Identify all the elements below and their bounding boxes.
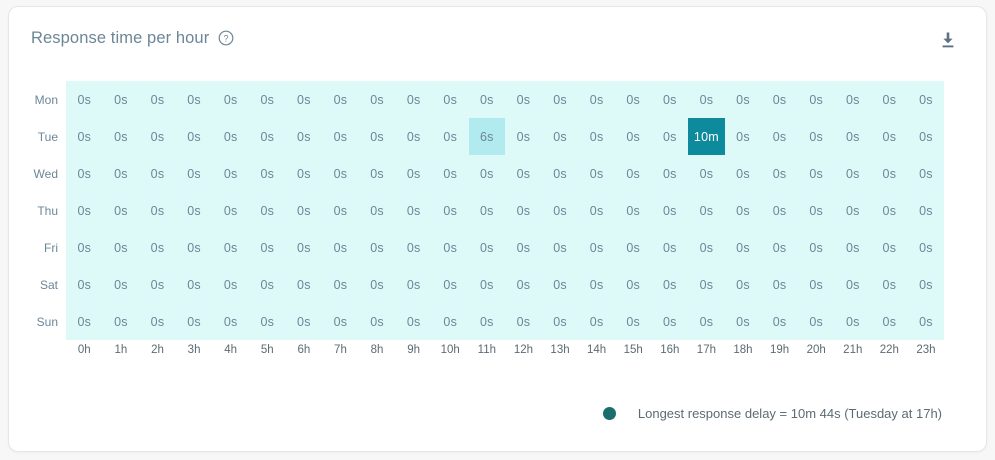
heatmap-cell[interactable]: 0s — [395, 118, 432, 155]
heatmap-cell[interactable]: 0s — [322, 303, 359, 340]
heatmap-cell-value: 0s — [578, 266, 615, 303]
heatmap-cell-value: 0s — [322, 155, 359, 192]
heatmap-cell-value: 0s — [469, 81, 506, 118]
heatmap-cell[interactable]: 0s — [103, 266, 140, 303]
heatmap-cell[interactable]: 0s — [542, 81, 579, 118]
heatmap-cell[interactable]: 0s — [469, 155, 506, 192]
heatmap-cell-value: 0s — [286, 118, 323, 155]
heatmap-cell[interactable]: 0s — [176, 118, 213, 155]
heatmap-cell[interactable]: 0s — [359, 303, 396, 340]
heatmap-cell-value: 0s — [725, 192, 762, 229]
heatmap-cell-value: 0s — [652, 192, 689, 229]
heatmap-cell[interactable]: 0s — [578, 266, 615, 303]
heatmap-cell[interactable]: 0s — [359, 155, 396, 192]
heatmap-cell-value: 0s — [542, 229, 579, 266]
heatmap-cell-value: 0s — [359, 81, 396, 118]
hour-label: 19h — [761, 344, 798, 356]
heatmap-cell[interactable]: 0s — [212, 118, 249, 155]
heatmap-cell[interactable]: 0s — [798, 229, 835, 266]
heatmap-cell[interactable]: 0s — [578, 118, 615, 155]
heatmap-cell[interactable]: 0s — [286, 303, 323, 340]
heatmap-cell[interactable]: 0s — [176, 229, 213, 266]
heatmap-cell[interactable]: 0s — [578, 192, 615, 229]
heatmap-cell-value: 0s — [139, 266, 176, 303]
response-time-card: Response time per hour ? MonTueWedThuFri… — [8, 6, 987, 452]
heatmap-cell[interactable]: 0s — [725, 229, 762, 266]
heatmap-cell[interactable]: 0s — [505, 155, 542, 192]
heatmap-cell-value: 0s — [725, 155, 762, 192]
heatmap-cell[interactable]: 0s — [322, 266, 359, 303]
heatmap-cell-value: 0s — [652, 266, 689, 303]
heatmap-cell[interactable]: 0s — [139, 303, 176, 340]
heatmap-cell[interactable]: 0s — [834, 81, 871, 118]
heatmap-cell[interactable]: 0s — [322, 81, 359, 118]
heatmap-cell-value: 0s — [542, 303, 579, 340]
heatmap-cell[interactable]: 0s — [761, 303, 798, 340]
heatmap-cell-value: 6s — [469, 118, 506, 155]
heatmap-cell-value: 0s — [908, 303, 945, 340]
heatmap-cell-value: 0s — [652, 155, 689, 192]
heatmap-cell-value: 0s — [322, 229, 359, 266]
heatmap-cell[interactable]: 0s — [176, 266, 213, 303]
heatmap-cell-value: 0s — [176, 266, 213, 303]
heatmap-cell[interactable]: 0s — [542, 192, 579, 229]
heatmap-cell[interactable]: 0s — [505, 303, 542, 340]
heatmap-cell-value: 0s — [834, 81, 871, 118]
heatmap-cell[interactable]: 0s — [469, 81, 506, 118]
heatmap-cell[interactable]: 0s — [908, 229, 945, 266]
heatmap-cell[interactable]: 0s — [395, 303, 432, 340]
response-time-heatmap: MonTueWedThuFriSatSun 0s0s0s0s0s0s0s0s0s… — [66, 81, 944, 356]
heatmap-cell[interactable]: 0s — [469, 303, 506, 340]
heatmap-cell[interactable]: 0s — [66, 229, 103, 266]
heatmap-cell[interactable]: 0s — [615, 192, 652, 229]
heatmap-cell[interactable]: 0s — [505, 229, 542, 266]
heatmap-cell-value: 0s — [103, 192, 140, 229]
heatmap-cell-value: 0s — [139, 118, 176, 155]
heatmap-cell-value: 0s — [176, 155, 213, 192]
heatmap-cell[interactable]: 0s — [395, 155, 432, 192]
heatmap-cell-value: 0s — [761, 266, 798, 303]
heatmap-cell-value: 0s — [615, 303, 652, 340]
heatmap-cell-value: 0s — [871, 229, 908, 266]
heatmap-cell-value: 0s — [615, 266, 652, 303]
heatmap-cell-value: 0s — [286, 192, 323, 229]
heatmap-cell-value: 0s — [286, 266, 323, 303]
heatmap-cell-value: 0s — [432, 118, 469, 155]
heatmap-cell[interactable]: 0s — [139, 118, 176, 155]
heatmap-cell[interactable]: 0s — [652, 155, 689, 192]
heatmap-cell[interactable]: 0s — [798, 303, 835, 340]
heatmap-cell-value: 0s — [761, 155, 798, 192]
heatmap-cell[interactable]: 0s — [578, 155, 615, 192]
heatmap-cell-value: 0s — [432, 192, 469, 229]
heatmap-cell[interactable]: 0s — [688, 266, 725, 303]
day-label: Fri — [16, 229, 60, 266]
heatmap-cell[interactable]: 0s — [871, 118, 908, 155]
heatmap-cell[interactable]: 0s — [249, 192, 286, 229]
day-label: Thu — [16, 192, 60, 229]
heatmap-cell[interactable]: 0s — [578, 229, 615, 266]
heatmap-cell[interactable]: 0s — [505, 266, 542, 303]
heatmap-cell-value: 0s — [139, 155, 176, 192]
heatmap-cell[interactable]: 0s — [395, 229, 432, 266]
heatmap-cell-value: 0s — [359, 192, 396, 229]
heatmap-cell-value: 0s — [395, 192, 432, 229]
day-label: Sat — [16, 266, 60, 303]
heatmap-cell[interactable]: 0s — [469, 229, 506, 266]
heatmap-cell-value: 0s — [834, 229, 871, 266]
heatmap-cell[interactable]: 0s — [176, 155, 213, 192]
heatmap-cell-value: 0s — [761, 303, 798, 340]
heatmap-cell-value: 0s — [322, 192, 359, 229]
heatmap-row: 0s0s0s0s0s0s0s0s0s0s0s0s0s0s0s0s0s0s0s0s… — [66, 266, 944, 303]
heatmap-cell[interactable]: 0s — [542, 303, 579, 340]
heatmap-cell-value: 0s — [139, 229, 176, 266]
heatmap-cell[interactable]: 0s — [834, 192, 871, 229]
heatmap-cell-value: 0s — [359, 303, 396, 340]
heatmap-cell-value: 0s — [432, 303, 469, 340]
heatmap-cell-value: 0s — [834, 303, 871, 340]
heatmap-cell-value: 0s — [652, 229, 689, 266]
heatmap-cell[interactable]: 0s — [66, 118, 103, 155]
heatmap-cell-value: 0s — [542, 266, 579, 303]
heatmap-cell-value: 0s — [652, 118, 689, 155]
heatmap-cell[interactable]: 0s — [578, 303, 615, 340]
heatmap-cell[interactable]: 0s — [761, 192, 798, 229]
heatmap-cell[interactable]: 0s — [322, 229, 359, 266]
heatmap-cell-value: 0s — [322, 266, 359, 303]
heatmap-cell[interactable]: 0s — [66, 81, 103, 118]
heatmap-cell[interactable]: 0s — [286, 118, 323, 155]
heatmap-cell-value: 0s — [798, 118, 835, 155]
heatmap-cell[interactable]: 0s — [908, 303, 945, 340]
heatmap-cell[interactable]: 0s — [286, 229, 323, 266]
heatmap-cell[interactable]: 0s — [761, 229, 798, 266]
hour-axis-labels: 0h1h2h3h4h5h6h7h8h9h10h11h12h13h14h15h16… — [66, 344, 944, 356]
heatmap-cell[interactable]: 0s — [359, 266, 396, 303]
heatmap-cell-value: 0s — [212, 229, 249, 266]
day-label: Sun — [16, 303, 60, 340]
heatmap-cell-value: 0s — [212, 266, 249, 303]
heatmap-cell[interactable]: 0s — [505, 81, 542, 118]
heatmap-cell[interactable]: 0s — [66, 155, 103, 192]
heatmap-cell-value: 10m — [688, 118, 725, 155]
heatmap-cell-value: 0s — [286, 303, 323, 340]
heatmap-cell[interactable]: 0s — [322, 192, 359, 229]
heatmap-cell[interactable]: 0s — [66, 266, 103, 303]
heatmap-cell-value: 0s — [322, 118, 359, 155]
heatmap-row: 0s0s0s0s0s0s0s0s0s0s0s0s0s0s0s0s0s0s0s0s… — [66, 155, 944, 192]
heatmap-cell[interactable]: 0s — [432, 81, 469, 118]
heatmap-cell-value: 0s — [212, 192, 249, 229]
title-group: Response time per hour ? — [31, 29, 234, 48]
heatmap-cell[interactable]: 0s — [834, 266, 871, 303]
heatmap-cell[interactable]: 0s — [249, 229, 286, 266]
heatmap-cell-value: 0s — [359, 229, 396, 266]
heatmap-cell[interactable]: 0s — [725, 303, 762, 340]
heatmap-cell[interactable]: 0s — [871, 81, 908, 118]
heatmap-cell[interactable]: 0s — [103, 81, 140, 118]
heatmap-cell-value: 0s — [212, 118, 249, 155]
heatmap-cell-value: 0s — [212, 81, 249, 118]
heatmap-cell[interactable]: 0s — [615, 81, 652, 118]
heatmap-cell[interactable]: 0s — [103, 192, 140, 229]
card-header: Response time per hour ? — [9, 7, 986, 69]
heatmap-cell-value: 0s — [66, 118, 103, 155]
heatmap-cell-value: 0s — [66, 266, 103, 303]
heatmap-cell[interactable]: 0s — [542, 229, 579, 266]
hour-label: 8h — [359, 344, 396, 356]
heatmap-cell-value: 0s — [469, 155, 506, 192]
heatmap-cell[interactable]: 0s — [286, 155, 323, 192]
heatmap-cell-value: 0s — [249, 303, 286, 340]
heatmap-cell[interactable]: 0s — [652, 303, 689, 340]
heatmap-cell-value: 0s — [652, 303, 689, 340]
heatmap-cell-value: 0s — [103, 81, 140, 118]
heatmap-cell[interactable]: 0s — [761, 266, 798, 303]
heatmap-cell[interactable]: 0s — [798, 155, 835, 192]
heatmap-cell-value: 0s — [725, 118, 762, 155]
heatmap-cell[interactable]: 0s — [103, 155, 140, 192]
heatmap-cell[interactable]: 0s — [798, 81, 835, 118]
download-icon[interactable] — [936, 28, 960, 52]
heatmap-cell-value: 0s — [395, 118, 432, 155]
heatmap-cell[interactable]: 0s — [176, 303, 213, 340]
heatmap-cell[interactable]: 0s — [66, 303, 103, 340]
heatmap-cell[interactable]: 0s — [139, 266, 176, 303]
heatmap-cell-value: 0s — [432, 81, 469, 118]
heatmap-cell[interactable]: 0s — [542, 266, 579, 303]
heatmap-cell-value: 0s — [432, 155, 469, 192]
heatmap-cell[interactable]: 0s — [249, 303, 286, 340]
heatmap-cell[interactable]: 0s — [432, 155, 469, 192]
heatmap-cell-value: 0s — [249, 81, 286, 118]
heatmap-cell-value: 0s — [395, 81, 432, 118]
heatmap-cell-value: 0s — [66, 192, 103, 229]
heatmap-cell-value: 0s — [615, 81, 652, 118]
hour-label: 12h — [505, 344, 542, 356]
heatmap-cell-value: 0s — [249, 266, 286, 303]
heatmap-cell[interactable]: 0s — [432, 118, 469, 155]
heatmap-cell[interactable]: 0s — [359, 118, 396, 155]
heatmap-cell[interactable]: 0s — [432, 192, 469, 229]
heatmap-cell[interactable]: 0s — [798, 192, 835, 229]
heatmap-cell[interactable]: 0s — [578, 81, 615, 118]
heatmap-cell-value: 0s — [688, 266, 725, 303]
heatmap-cell[interactable]: 0s — [688, 303, 725, 340]
heatmap-cell[interactable]: 0s — [615, 155, 652, 192]
heatmap-cell[interactable]: 0s — [212, 229, 249, 266]
heatmap-cell[interactable]: 0s — [652, 81, 689, 118]
heatmap-cell[interactable]: 0s — [908, 266, 945, 303]
heatmap-cell[interactable]: 0s — [908, 81, 945, 118]
day-label: Mon — [16, 81, 60, 118]
heatmap-cell[interactable]: 0s — [688, 229, 725, 266]
heatmap-cell-value: 0s — [615, 155, 652, 192]
help-circle-icon[interactable]: ? — [218, 30, 234, 46]
heatmap-cell[interactable]: 0s — [798, 118, 835, 155]
heatmap-row: 0s0s0s0s0s0s0s0s0s0s0s0s0s0s0s0s0s0s0s0s… — [66, 303, 944, 340]
heatmap-cell-value: 0s — [542, 81, 579, 118]
heatmap-cell-value: 0s — [688, 155, 725, 192]
heatmap-cell[interactable]: 0s — [359, 229, 396, 266]
heatmap-cell[interactable]: 0s — [725, 155, 762, 192]
heatmap-cell[interactable]: 0s — [212, 81, 249, 118]
heatmap-cell-value: 0s — [212, 303, 249, 340]
heatmap-cell-value: 0s — [139, 192, 176, 229]
heatmap-cell-value: 0s — [908, 81, 945, 118]
heatmap-cell-value: 0s — [359, 118, 396, 155]
heatmap-cell-value: 0s — [761, 81, 798, 118]
heatmap-cell[interactable]: 0s — [871, 192, 908, 229]
heatmap-cell[interactable]: 0s — [432, 266, 469, 303]
heatmap-cell[interactable]: 0s — [286, 266, 323, 303]
heatmap-cell[interactable]: 0s — [761, 81, 798, 118]
heatmap-cell[interactable]: 0s — [798, 266, 835, 303]
heatmap-cell[interactable]: 0s — [688, 192, 725, 229]
hour-label: 5h — [249, 344, 286, 356]
heatmap-cell[interactable]: 0s — [432, 303, 469, 340]
heatmap-cell[interactable]: 0s — [871, 155, 908, 192]
hour-label: 4h — [212, 344, 249, 356]
heatmap-cell[interactable]: 0s — [834, 229, 871, 266]
heatmap-cell[interactable]: 0s — [615, 266, 652, 303]
heatmap-cell[interactable]: 0s — [212, 266, 249, 303]
heatmap-cell-value: 0s — [578, 155, 615, 192]
heatmap-cell[interactable]: 0s — [871, 303, 908, 340]
heatmap-cell[interactable]: 0s — [688, 155, 725, 192]
heatmap-cell[interactable]: 0s — [725, 192, 762, 229]
heatmap-cell[interactable]: 0s — [359, 192, 396, 229]
hour-label: 21h — [834, 344, 871, 356]
heatmap-cell[interactable]: 0s — [249, 266, 286, 303]
heatmap-cell-value: 0s — [505, 155, 542, 192]
heatmap-cell-value: 0s — [66, 303, 103, 340]
heatmap-cell[interactable]: 0s — [652, 118, 689, 155]
heatmap-row: 0s0s0s0s0s0s0s0s0s0s0s0s0s0s0s0s0s0s0s0s… — [66, 229, 944, 266]
heatmap-cell-value: 0s — [249, 192, 286, 229]
heatmap-cell[interactable]: 0s — [103, 229, 140, 266]
heatmap-cell-value: 0s — [798, 266, 835, 303]
heatmap-cell[interactable]: 0s — [908, 192, 945, 229]
heatmap-cell[interactable]: 0s — [725, 118, 762, 155]
heatmap-cell[interactable]: 0s — [469, 192, 506, 229]
heatmap-cell[interactable]: 0s — [212, 303, 249, 340]
heatmap-cell[interactable]: 0s — [212, 155, 249, 192]
heatmap-cell-value: 0s — [176, 118, 213, 155]
heatmap-cell[interactable]: 0s — [615, 118, 652, 155]
heatmap-cell[interactable]: 0s — [432, 229, 469, 266]
heatmap-cell[interactable]: 0s — [615, 229, 652, 266]
heatmap-cell-value: 0s — [871, 266, 908, 303]
heatmap-cell[interactable]: 0s — [176, 192, 213, 229]
heatmap-cell-value: 0s — [176, 229, 213, 266]
heatmap-cell-value: 0s — [505, 118, 542, 155]
heatmap-cell-value: 0s — [103, 118, 140, 155]
heatmap-cell[interactable]: 0s — [395, 81, 432, 118]
heatmap-cell[interactable]: 0s — [103, 303, 140, 340]
heatmap-cell[interactable]: 0s — [652, 229, 689, 266]
heatmap-cell[interactable]: 0s — [176, 81, 213, 118]
heatmap-cell[interactable]: 0s — [286, 81, 323, 118]
heatmap-cell[interactable]: 0s — [725, 81, 762, 118]
heatmap-cell-value: 0s — [322, 81, 359, 118]
heatmap-cell[interactable]: 0s — [834, 303, 871, 340]
heatmap-cell[interactable]: 0s — [725, 266, 762, 303]
heatmap-cell[interactable]: 0s — [761, 155, 798, 192]
heatmap-cell[interactable]: 0s — [542, 118, 579, 155]
heatmap-cell[interactable]: 10m — [688, 118, 725, 155]
heatmap-cell[interactable]: 0s — [103, 118, 140, 155]
heatmap-cell[interactable]: 0s — [542, 155, 579, 192]
heatmap-cell[interactable]: 0s — [359, 81, 396, 118]
heatmap-cell-value: 0s — [469, 303, 506, 340]
heatmap-cell-value: 0s — [505, 81, 542, 118]
heatmap-cell[interactable]: 0s — [249, 118, 286, 155]
heatmap-cell-value: 0s — [871, 81, 908, 118]
hour-label: 16h — [652, 344, 689, 356]
heatmap-cell-value: 0s — [469, 229, 506, 266]
heatmap-cell-value: 0s — [834, 118, 871, 155]
heatmap-cell[interactable]: 0s — [249, 155, 286, 192]
heatmap-cell[interactable]: 0s — [505, 118, 542, 155]
heatmap-cell[interactable]: 0s — [66, 192, 103, 229]
heatmap-cell[interactable]: 0s — [139, 192, 176, 229]
heatmap-cell[interactable]: 0s — [652, 192, 689, 229]
heatmap-cell[interactable]: 0s — [834, 155, 871, 192]
heatmap-cell[interactable]: 0s — [469, 266, 506, 303]
heatmap-cell[interactable]: 0s — [286, 192, 323, 229]
heatmap-cell[interactable]: 0s — [322, 155, 359, 192]
heatmap-cell-value: 0s — [834, 192, 871, 229]
heatmap-cell-value: 0s — [359, 155, 396, 192]
legend-label: Longest response delay = 10m 44s (Tuesda… — [638, 406, 942, 421]
heatmap-cell[interactable]: 0s — [871, 229, 908, 266]
heatmap-cell-value: 0s — [103, 303, 140, 340]
heatmap-cell-value: 0s — [908, 266, 945, 303]
heatmap-cell[interactable]: 0s — [139, 81, 176, 118]
heatmap-cell-value: 0s — [212, 155, 249, 192]
heatmap-cell-value: 0s — [505, 192, 542, 229]
heatmap-cell[interactable]: 0s — [249, 81, 286, 118]
heatmap-cell[interactable]: 0s — [761, 118, 798, 155]
heatmap-cell-value: 0s — [542, 155, 579, 192]
heatmap-cell[interactable]: 0s — [212, 192, 249, 229]
heatmap-cell[interactable]: 0s — [395, 192, 432, 229]
heatmap-cell[interactable]: 0s — [908, 155, 945, 192]
heatmap-cell[interactable]: 0s — [615, 303, 652, 340]
heatmap-cell-value: 0s — [761, 229, 798, 266]
heatmap-cell[interactable]: 0s — [834, 118, 871, 155]
heatmap-cell[interactable]: 0s — [322, 118, 359, 155]
heatmap-cell[interactable]: 0s — [688, 81, 725, 118]
heatmap-cell[interactable]: 6s — [469, 118, 506, 155]
heatmap-cell[interactable]: 0s — [505, 192, 542, 229]
heatmap-cell[interactable]: 0s — [139, 229, 176, 266]
heatmap-cell-value: 0s — [578, 118, 615, 155]
heatmap-cell[interactable]: 0s — [908, 118, 945, 155]
heatmap-cell-value: 0s — [578, 303, 615, 340]
heatmap-cell-value: 0s — [395, 266, 432, 303]
heatmap-cell[interactable]: 0s — [139, 155, 176, 192]
heatmap-cell[interactable]: 0s — [652, 266, 689, 303]
heatmap-cell[interactable]: 0s — [395, 266, 432, 303]
heatmap-cell-value: 0s — [176, 192, 213, 229]
heatmap-cell[interactable]: 0s — [871, 266, 908, 303]
heatmap-cell-value: 0s — [908, 118, 945, 155]
heatmap-cell-value: 0s — [103, 266, 140, 303]
